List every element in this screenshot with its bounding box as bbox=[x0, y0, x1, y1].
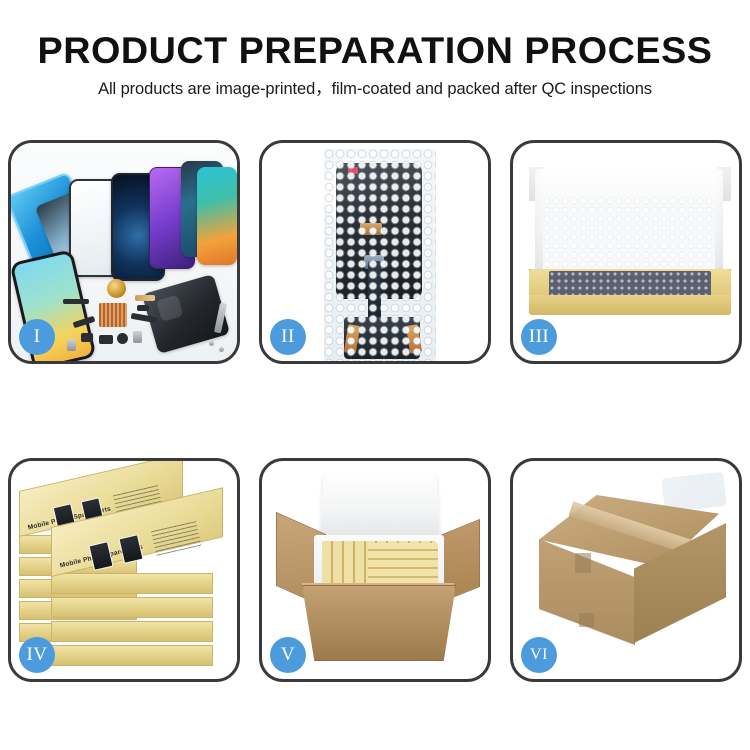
connector-grid-icon bbox=[99, 303, 127, 327]
product-preparation-infographic: PRODUCT PREPARATION PROCESS All products… bbox=[0, 0, 750, 750]
carton-handle-tab-icon bbox=[575, 553, 591, 573]
step-badge-5: V bbox=[270, 637, 306, 673]
process-step-5: V bbox=[259, 458, 491, 682]
bubble-texture bbox=[324, 149, 436, 361]
process-step-2: II bbox=[259, 140, 491, 364]
step-badge-3: III bbox=[521, 319, 557, 355]
screw-icon bbox=[209, 341, 214, 346]
carton-handle-tab-icon bbox=[579, 613, 594, 627]
bubble-wrap-bag-icon bbox=[324, 149, 436, 361]
process-step-4: Mobile Phone Spare Parts Mobile Phone Sp… bbox=[8, 458, 240, 682]
process-step-6: VI bbox=[510, 458, 742, 682]
small-part-icon bbox=[99, 335, 113, 344]
retail-box-icon bbox=[51, 597, 213, 618]
sim-tray-icon bbox=[67, 339, 76, 351]
carton-body-icon bbox=[302, 585, 456, 661]
gold-box-front-icon bbox=[529, 295, 731, 315]
small-part-icon bbox=[137, 305, 149, 311]
process-step-3: III bbox=[510, 140, 742, 364]
retail-box-icon bbox=[51, 573, 213, 594]
screw-icon bbox=[219, 347, 224, 352]
speaker-icon bbox=[117, 333, 128, 344]
header: PRODUCT PREPARATION PROCESS All products… bbox=[0, 30, 750, 100]
step-badge-1: I bbox=[19, 319, 55, 355]
small-part-icon bbox=[63, 299, 89, 304]
retail-box-icon bbox=[51, 645, 213, 666]
small-part-icon bbox=[81, 333, 93, 342]
lcd-display-orange-icon bbox=[197, 167, 237, 265]
copper-coil-icon bbox=[107, 279, 126, 298]
process-step-grid: I bbox=[8, 140, 742, 682]
gold-boxes-stack-icon bbox=[368, 543, 438, 585]
foam-lid-icon bbox=[320, 473, 439, 537]
retail-box-icon bbox=[51, 621, 213, 642]
battery-part-icon bbox=[133, 331, 142, 343]
flex-cable-icon bbox=[135, 295, 155, 301]
page-title: PRODUCT PREPARATION PROCESS bbox=[0, 30, 750, 72]
step-badge-2: II bbox=[270, 319, 306, 355]
process-step-1: I bbox=[8, 140, 240, 364]
foam-sheet-icon bbox=[543, 197, 715, 271]
plastic-wrap-icon bbox=[661, 472, 726, 512]
step-badge-6: VI bbox=[521, 637, 557, 673]
page-subtitle: All products are image-printed，film-coat… bbox=[0, 78, 750, 100]
step-badge-4: IV bbox=[19, 637, 55, 673]
